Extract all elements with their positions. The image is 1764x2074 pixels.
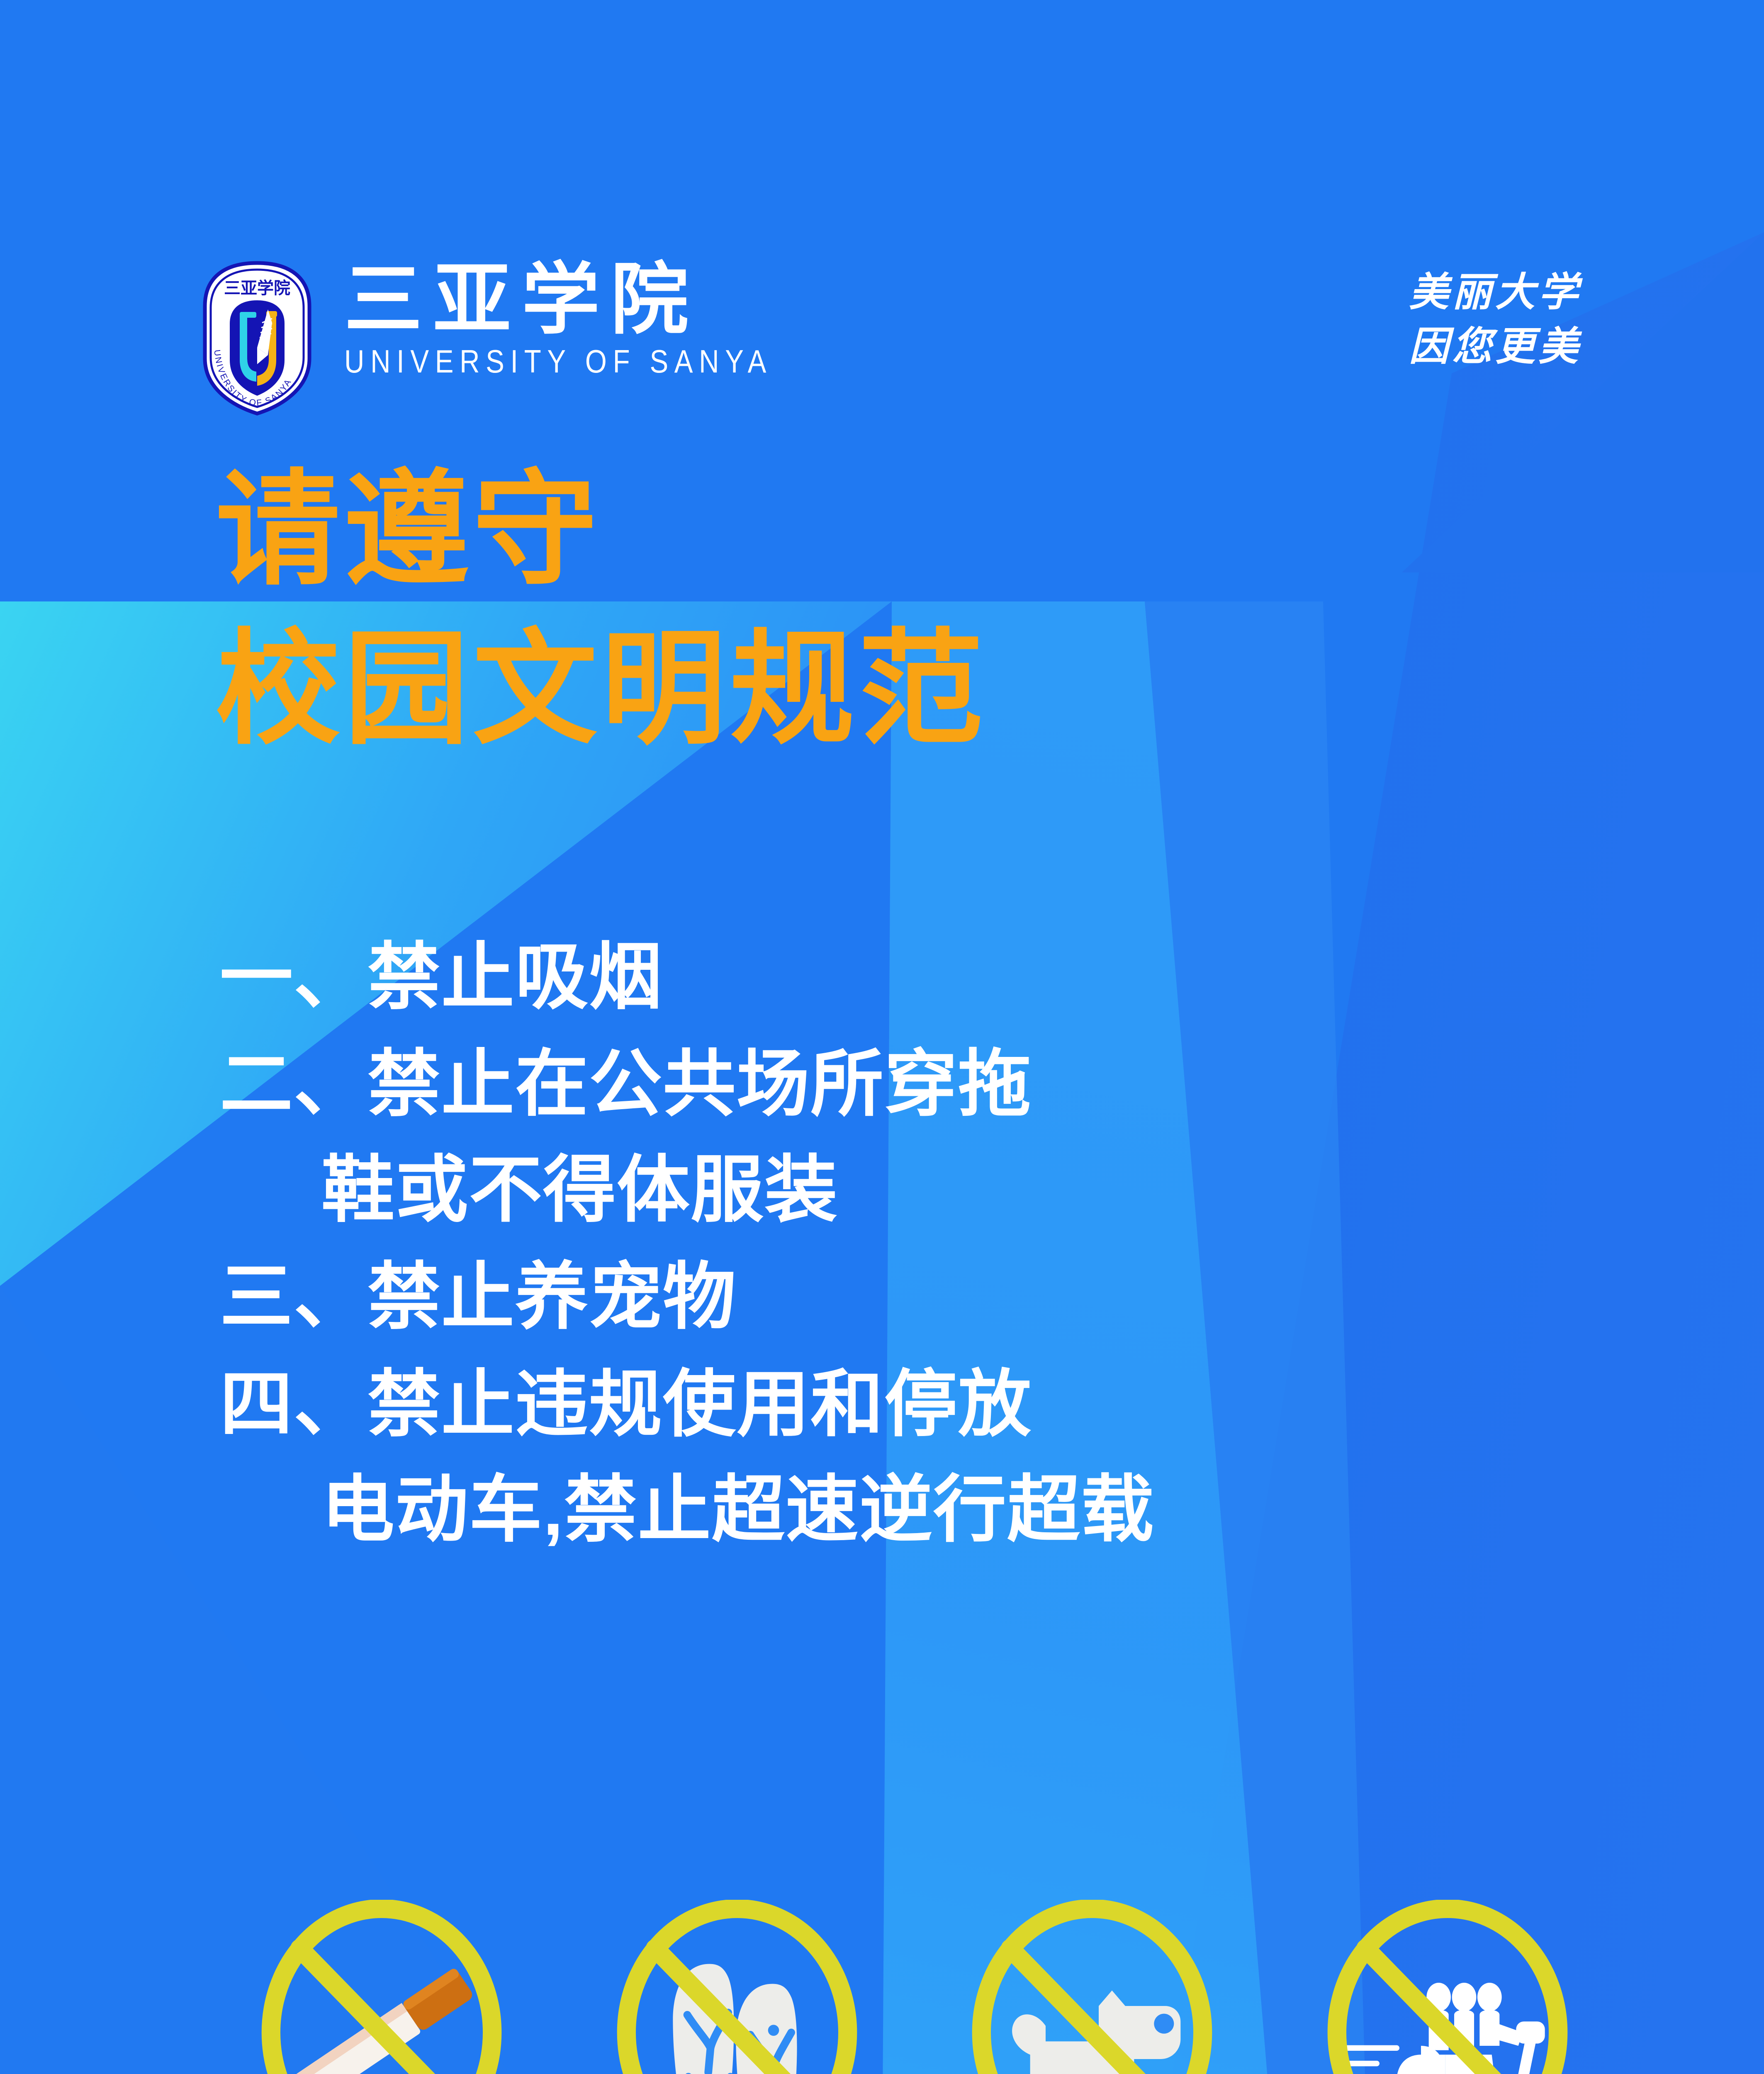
page-title-line-1: 请遵守 (216, 450, 987, 609)
poster-header: 三亚学院 UNIVERSITY OF SANYA 三亚学院 UNIVERSITY… (0, 124, 1764, 290)
rules-list: 一、禁止吸烟 二、禁止在公共场所穿拖 鞋或不得体服装 三、禁止养宠物 四、禁止违… (220, 935, 1155, 1575)
university-name-block: 三亚学院 UNIVERSITY OF SANYA (344, 261, 842, 377)
no-pets-icon (943, 1900, 1241, 2074)
no-flip-flops-icon (588, 1900, 886, 2074)
svg-text:三亚学院: 三亚学院 (224, 279, 290, 297)
rule-item-1: 一、禁止吸烟 (220, 935, 1155, 1019)
slogan: 美丽大学 因您更美 (1409, 265, 1582, 374)
prohibition-icon-row (232, 1900, 1597, 2074)
rule-item-4: 四、禁止违规使用和停放 电动车,禁止超速逆行超载 (220, 1363, 1155, 1552)
slogan-line-2: 因您更美 (1409, 320, 1582, 374)
no-smoking-icon (232, 1900, 531, 2074)
rule-4-line-2: 电动车,禁止超速逆行超载 (220, 1468, 1155, 1552)
university-crest-icon: 三亚学院 UNIVERSITY OF SANYA (195, 260, 319, 416)
poster-canvas: 三亚学院 UNIVERSITY OF SANYA 三亚学院 UNIVERSITY… (0, 0, 1764, 2074)
rule-2-line-2: 鞋或不得体服装 (220, 1148, 1155, 1232)
rule-2-line-1: 二、禁止在公共场所穿拖 (220, 1042, 1155, 1126)
rule-3-line-1: 三、禁止养宠物 (220, 1255, 1155, 1339)
university-name-cn: 三亚学院 (344, 261, 842, 339)
rule-1-line-1: 一、禁止吸烟 (220, 935, 1155, 1019)
rule-item-2: 二、禁止在公共场所穿拖 鞋或不得体服装 (220, 1042, 1155, 1232)
page-title: 请遵守 校园文明规范 (216, 450, 987, 769)
slogan-line-1: 美丽大学 (1409, 265, 1582, 320)
rule-4-line-1: 四、禁止违规使用和停放 (220, 1363, 1155, 1446)
no-scooter-icon (1298, 1900, 1597, 2074)
page-title-line-2: 校园文明规范 (216, 609, 987, 769)
rule-item-3: 三、禁止养宠物 (220, 1255, 1155, 1339)
university-name-en: UNIVERSITY OF SANYA (344, 345, 772, 377)
